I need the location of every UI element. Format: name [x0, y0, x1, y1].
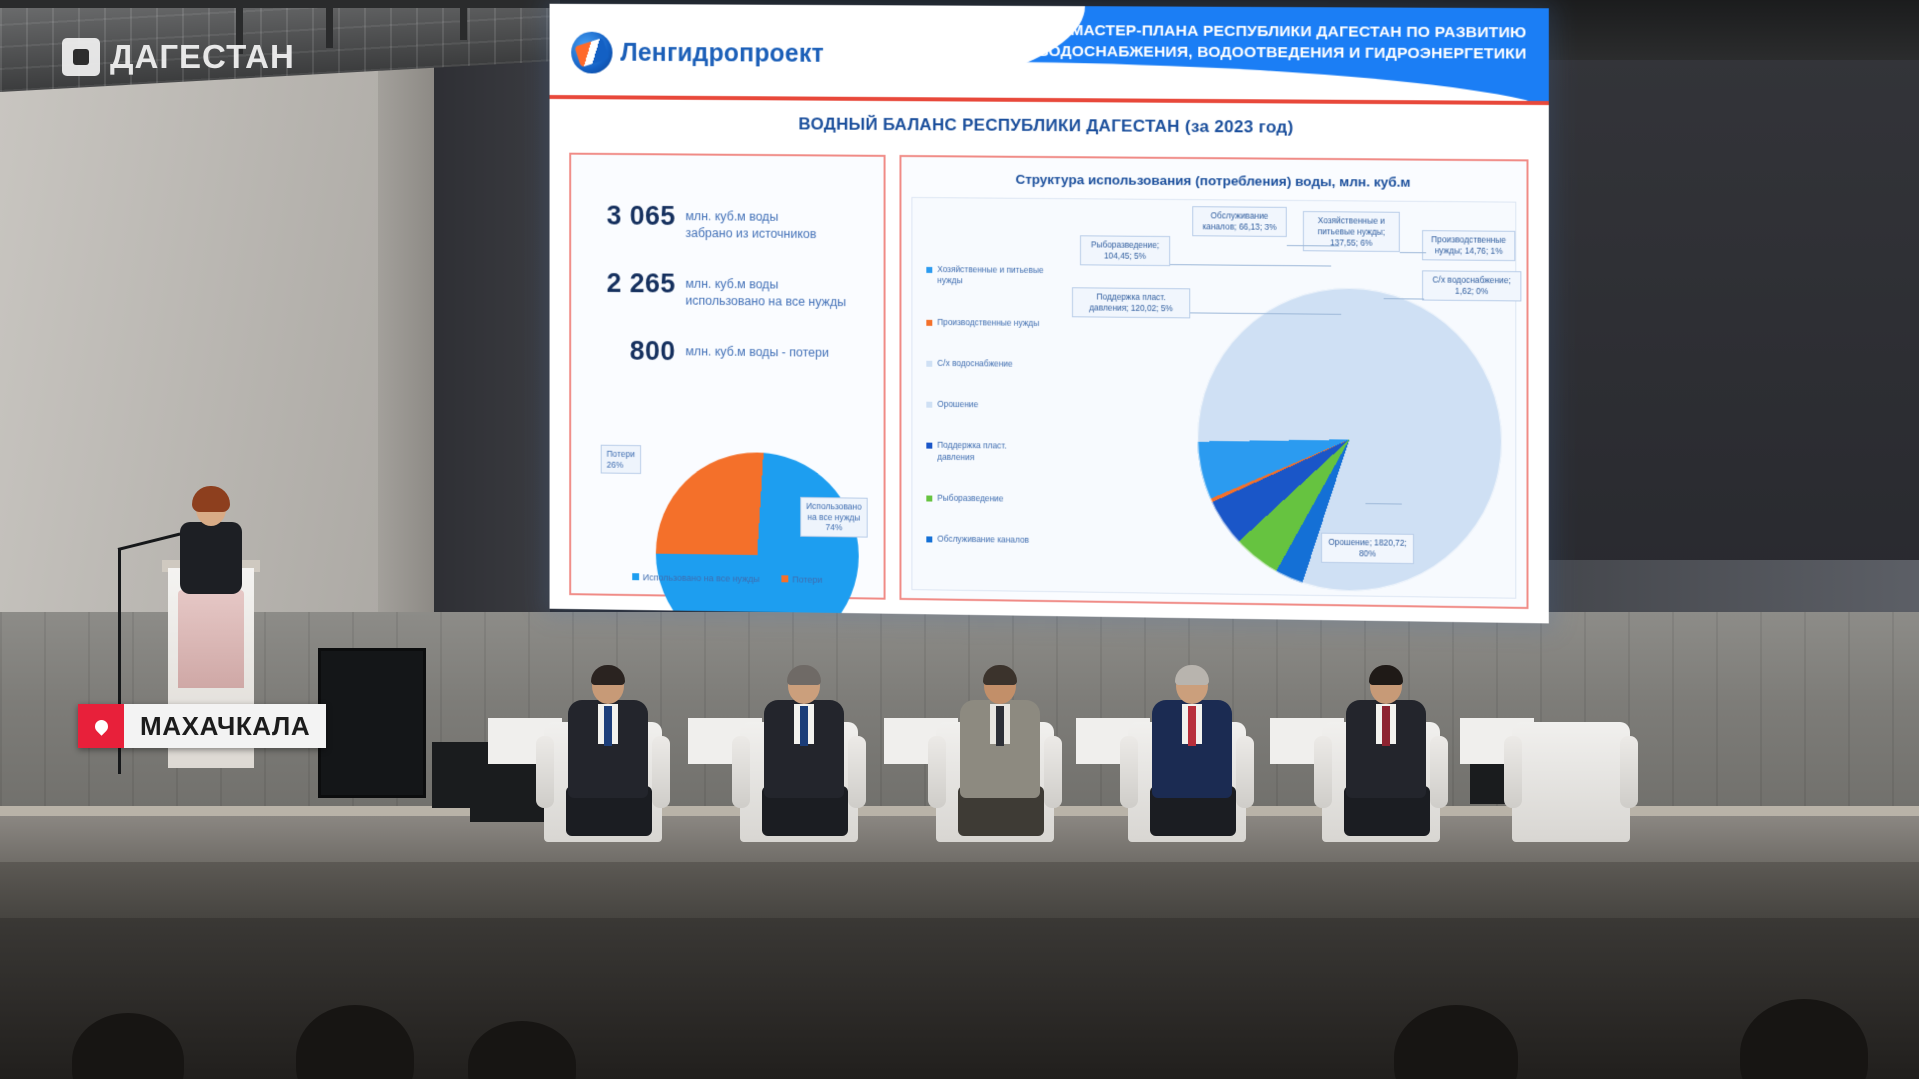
legend-label: С/х водоснабжение	[937, 358, 1012, 370]
audience-head	[72, 1013, 184, 1079]
legend-swatch	[926, 267, 932, 273]
legend-swatch	[926, 361, 932, 367]
stat-value: 2 265	[583, 268, 685, 300]
pie-circle	[656, 451, 859, 623]
channel-logo-icon	[62, 38, 100, 76]
water-use-panel-title: Структура использования (потребления) во…	[901, 171, 1526, 191]
legend-item: Поддержка пласт. давления	[926, 440, 1044, 464]
company-logo: Ленгидропроект	[571, 32, 824, 75]
legend-item: Орошение	[926, 399, 1044, 412]
speaker-at-podium	[176, 492, 248, 642]
legend-item: С/х водоснабжение	[926, 358, 1044, 370]
panel-seating-row	[488, 612, 1919, 842]
slide: РАЗРАБОТКА МАСТЕР-ПЛАНА РЕСПУБЛИКИ ДАГЕС…	[550, 4, 1549, 624]
wall-panel	[430, 40, 550, 660]
stat-value: 3 065	[583, 200, 685, 232]
channel-name: ДАГЕСТАН	[110, 38, 295, 76]
stat-label: млн. куб.м воды использовано на все нужд…	[685, 269, 846, 310]
leader-line	[1287, 245, 1339, 246]
audience-head	[1740, 999, 1868, 1079]
lenhydroproject-logo-icon	[571, 32, 612, 74]
audience-head	[296, 1005, 414, 1079]
water-balance-panel: 3 065 млн. куб.м воды забрано из источни…	[569, 153, 885, 600]
legend-label: Рыборазведение	[937, 492, 1003, 504]
legend-item: Рыборазведение	[926, 492, 1044, 505]
legend-swatch	[926, 443, 932, 449]
legend-item: Потери	[781, 574, 822, 585]
legend-label: Поддержка пласт. давления	[937, 440, 1044, 464]
location-badge: МАХАЧКАЛА	[78, 704, 326, 748]
panelist	[952, 668, 1048, 828]
legend-item: Использовано на все нужды	[632, 572, 760, 584]
stat-row: 2 265 млн. куб.м воды использовано на вс…	[583, 268, 880, 311]
stat-row: 3 065 млн. куб.м воды забрано из источни…	[583, 200, 880, 242]
legend-swatch	[926, 319, 932, 325]
stat-row: 800 млн. куб.м воды - потери	[583, 335, 880, 369]
legend-label: Хозяйственные и питьевые нужды	[937, 264, 1044, 287]
audience-head	[468, 1021, 576, 1079]
pie-legend: Хозяйственные и питьевые нужды Производс…	[926, 264, 1044, 576]
armchair	[1512, 722, 1630, 842]
location-label: МАХАЧКАЛА	[124, 704, 326, 748]
ceiling-beam	[0, 0, 560, 8]
legend-swatch	[926, 536, 932, 542]
callout-oroshenie: Орошение; 1820,72; 80%	[1321, 533, 1414, 564]
callout-ryborazvedenie: Рыборазведение; 104,45; 5%	[1080, 235, 1170, 265]
chart-area: Хозяйственные и питьевые нужды Производс…	[911, 197, 1516, 599]
leader-line	[1400, 252, 1426, 253]
legend-label: Использовано на все нужды	[643, 572, 760, 584]
panelist	[1338, 668, 1434, 828]
audience-head	[1394, 1005, 1518, 1079]
ceiling-beam	[326, 0, 333, 48]
leader-line	[1170, 264, 1331, 266]
legend-swatch	[926, 495, 932, 501]
panelist	[1144, 668, 1240, 828]
pie-label-losses: Потери 26%	[601, 445, 641, 475]
water-use-panel: Структура использования (потребления) во…	[899, 155, 1528, 609]
legend-label: Потери	[792, 574, 822, 584]
channel-watermark: ДАГЕСТАН	[62, 38, 295, 76]
stat-value: 800	[583, 335, 685, 367]
stats-list: 3 065 млн. куб.м воды забрано из источни…	[583, 200, 880, 397]
legend-label: Производственные нужды	[937, 316, 1039, 328]
legend-label: Обслуживание каналов	[937, 534, 1029, 546]
stat-label: млн. куб.м воды - потери	[685, 336, 828, 361]
callout-obsluzhivanie-kanalov: Обслуживание каналов; 66,13; 3%	[1192, 206, 1287, 236]
legend-item: Производственные нужды	[926, 316, 1044, 328]
ceiling-beam	[460, 0, 467, 40]
legend-label: Орошение	[937, 399, 978, 411]
presentation-screen: РАЗРАБОТКА МАСТЕР-ПЛАНА РЕСПУБЛИКИ ДАГЕС…	[545, 6, 1545, 616]
callout-podderzhka-plast-davleniya: Поддержка пласт. давления; 120,02; 5%	[1072, 287, 1190, 318]
panelist	[560, 668, 656, 828]
broadcast-frame: РАЗРАБОТКА МАСТЕР-ПЛАНА РЕСПУБЛИКИ ДАГЕС…	[0, 0, 1919, 1079]
water-balance-pie: Потери 26% Использовано на все нужды 74%…	[579, 403, 876, 594]
callout-sx-vodosnabzhenie: С/х водоснабжение; 1,62; 0%	[1422, 270, 1521, 301]
audience	[0, 983, 1919, 1079]
legend-swatch	[781, 575, 788, 582]
stat-label: млн. куб.м воды забрано из источников	[685, 201, 816, 242]
map-pin-icon	[78, 704, 124, 748]
stage-riser-lower	[0, 862, 1919, 922]
legend-swatch	[926, 402, 932, 408]
legend-swatch	[632, 573, 639, 580]
panelist	[756, 668, 852, 828]
callout-proizvodstvennye: Производственные нужды; 14,76; 1%	[1422, 230, 1515, 261]
legend-item: Обслуживание каналов	[926, 533, 1044, 546]
legend-item: Хозяйственные и питьевые нужды	[926, 264, 1044, 288]
stage-monitor	[318, 648, 426, 798]
company-logo-label: Ленгидропроект	[620, 38, 823, 68]
pie-label-used: Использовано на все нужды 74%	[800, 497, 867, 538]
